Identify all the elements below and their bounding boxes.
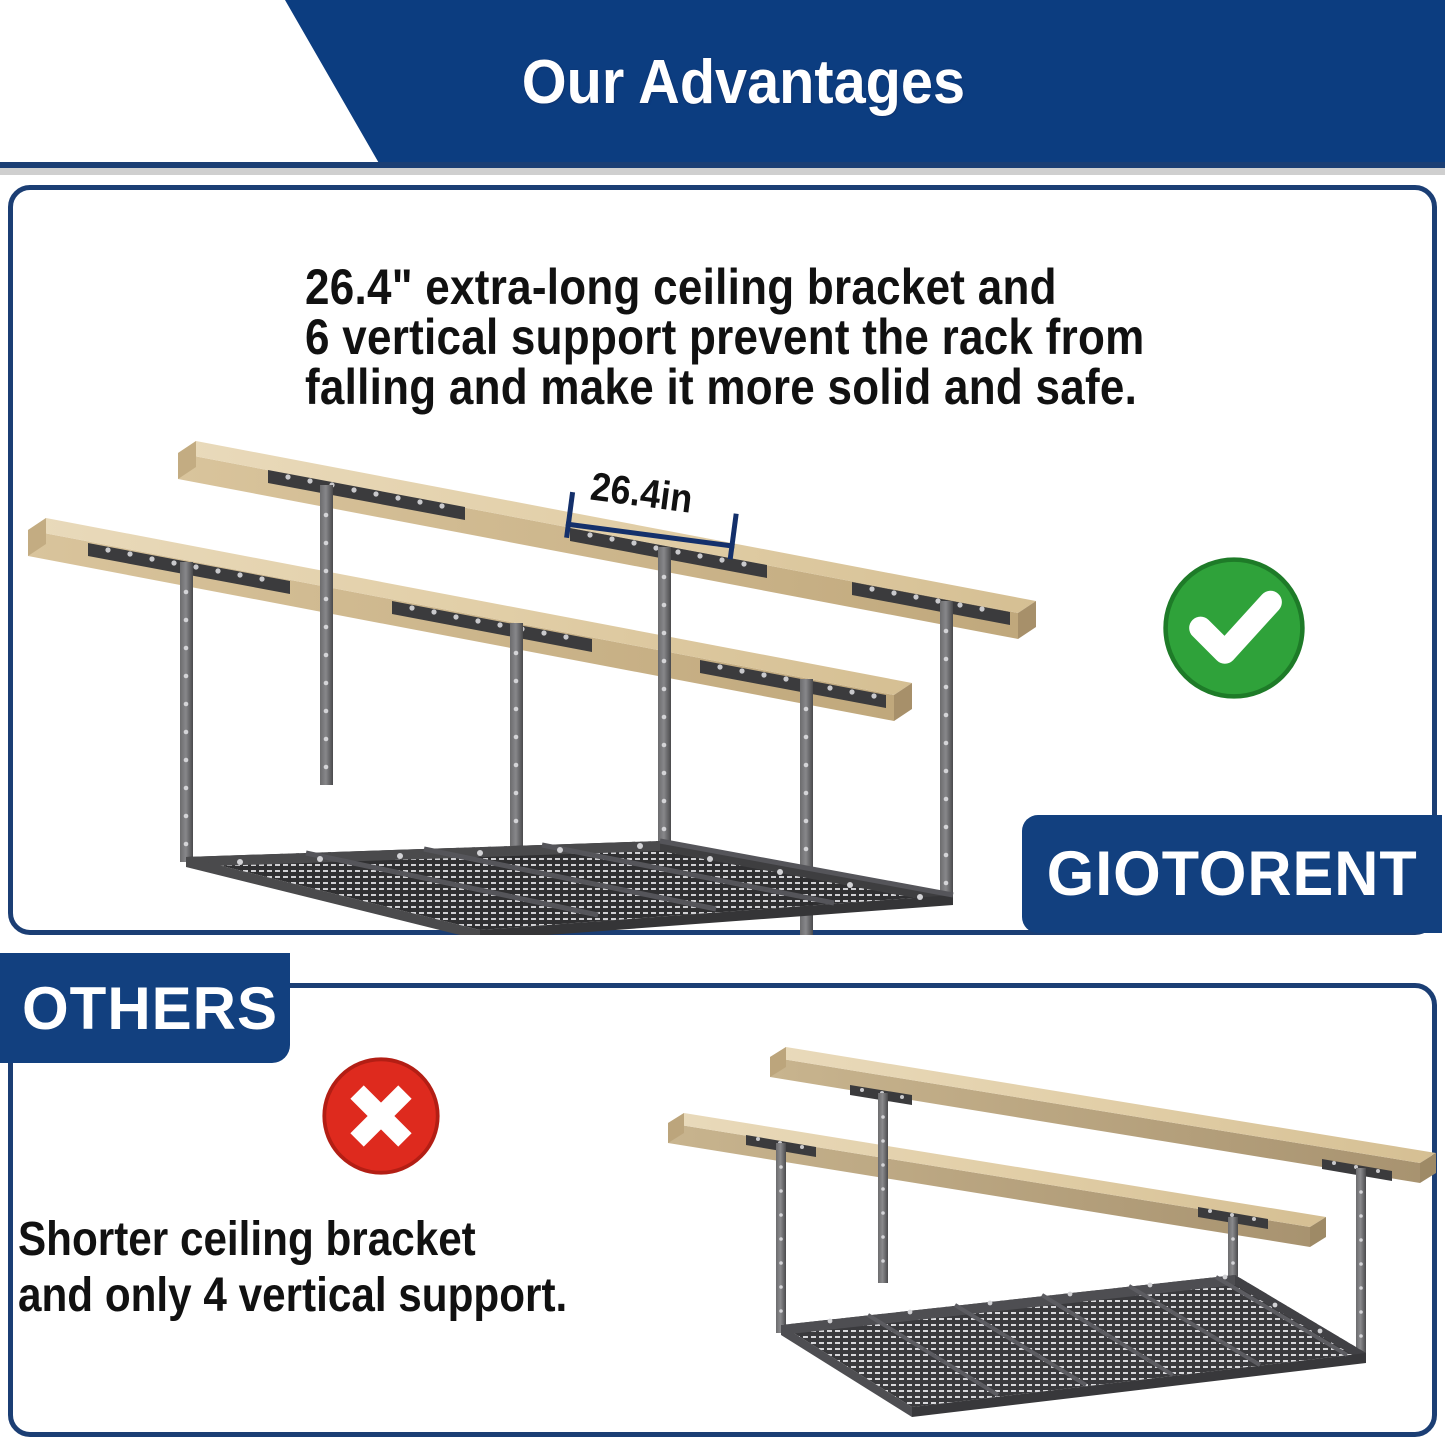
- headline-line-2: 6 vertical support prevent the rack from: [305, 312, 1295, 362]
- product-image-others-rack: [650, 1035, 1440, 1435]
- page-header: Our Advantages: [0, 0, 1445, 165]
- product-image-giotorent-rack: [10, 425, 1040, 935]
- rack-mesh-deck: [781, 1275, 1366, 1417]
- x-circle-icon: [318, 1053, 444, 1179]
- vertical-support-2: [1356, 1168, 1366, 1358]
- vertical-support-1: [878, 1093, 888, 1283]
- brand-badge: GIOTORENT: [1022, 815, 1442, 933]
- headline-line-1: 26.4" extra-long ceiling bracket and: [305, 262, 1295, 312]
- others-line-1: Shorter ceiling bracket: [18, 1212, 722, 1268]
- advantage-headline: 26.4" extra-long ceiling bracket and 6 v…: [305, 262, 1295, 412]
- dimension-cap-right: [728, 513, 739, 559]
- page-title: Our Advantages: [51, 0, 1395, 165]
- rack-mesh-deck: [186, 841, 953, 935]
- vertical-support-1: [320, 485, 333, 785]
- vertical-support-3: [776, 1143, 786, 1333]
- dimension-line: [566, 522, 735, 549]
- vertical-support-4: [180, 562, 193, 862]
- others-line-2: and only 4 vertical support.: [18, 1268, 722, 1324]
- header-divider-gray: [0, 168, 1445, 175]
- brand-name: GIOTORENT: [1047, 838, 1418, 910]
- others-description: Shorter ceiling bracket and only 4 verti…: [18, 1212, 722, 1324]
- others-badge: OTHERS: [0, 953, 290, 1063]
- vertical-support-2: [658, 547, 671, 847]
- headline-line-3: falling and make it more solid and safe.: [305, 362, 1295, 412]
- check-circle-icon: [1158, 552, 1310, 704]
- vertical-support-3: [940, 601, 953, 901]
- others-label: OTHERS: [22, 974, 278, 1043]
